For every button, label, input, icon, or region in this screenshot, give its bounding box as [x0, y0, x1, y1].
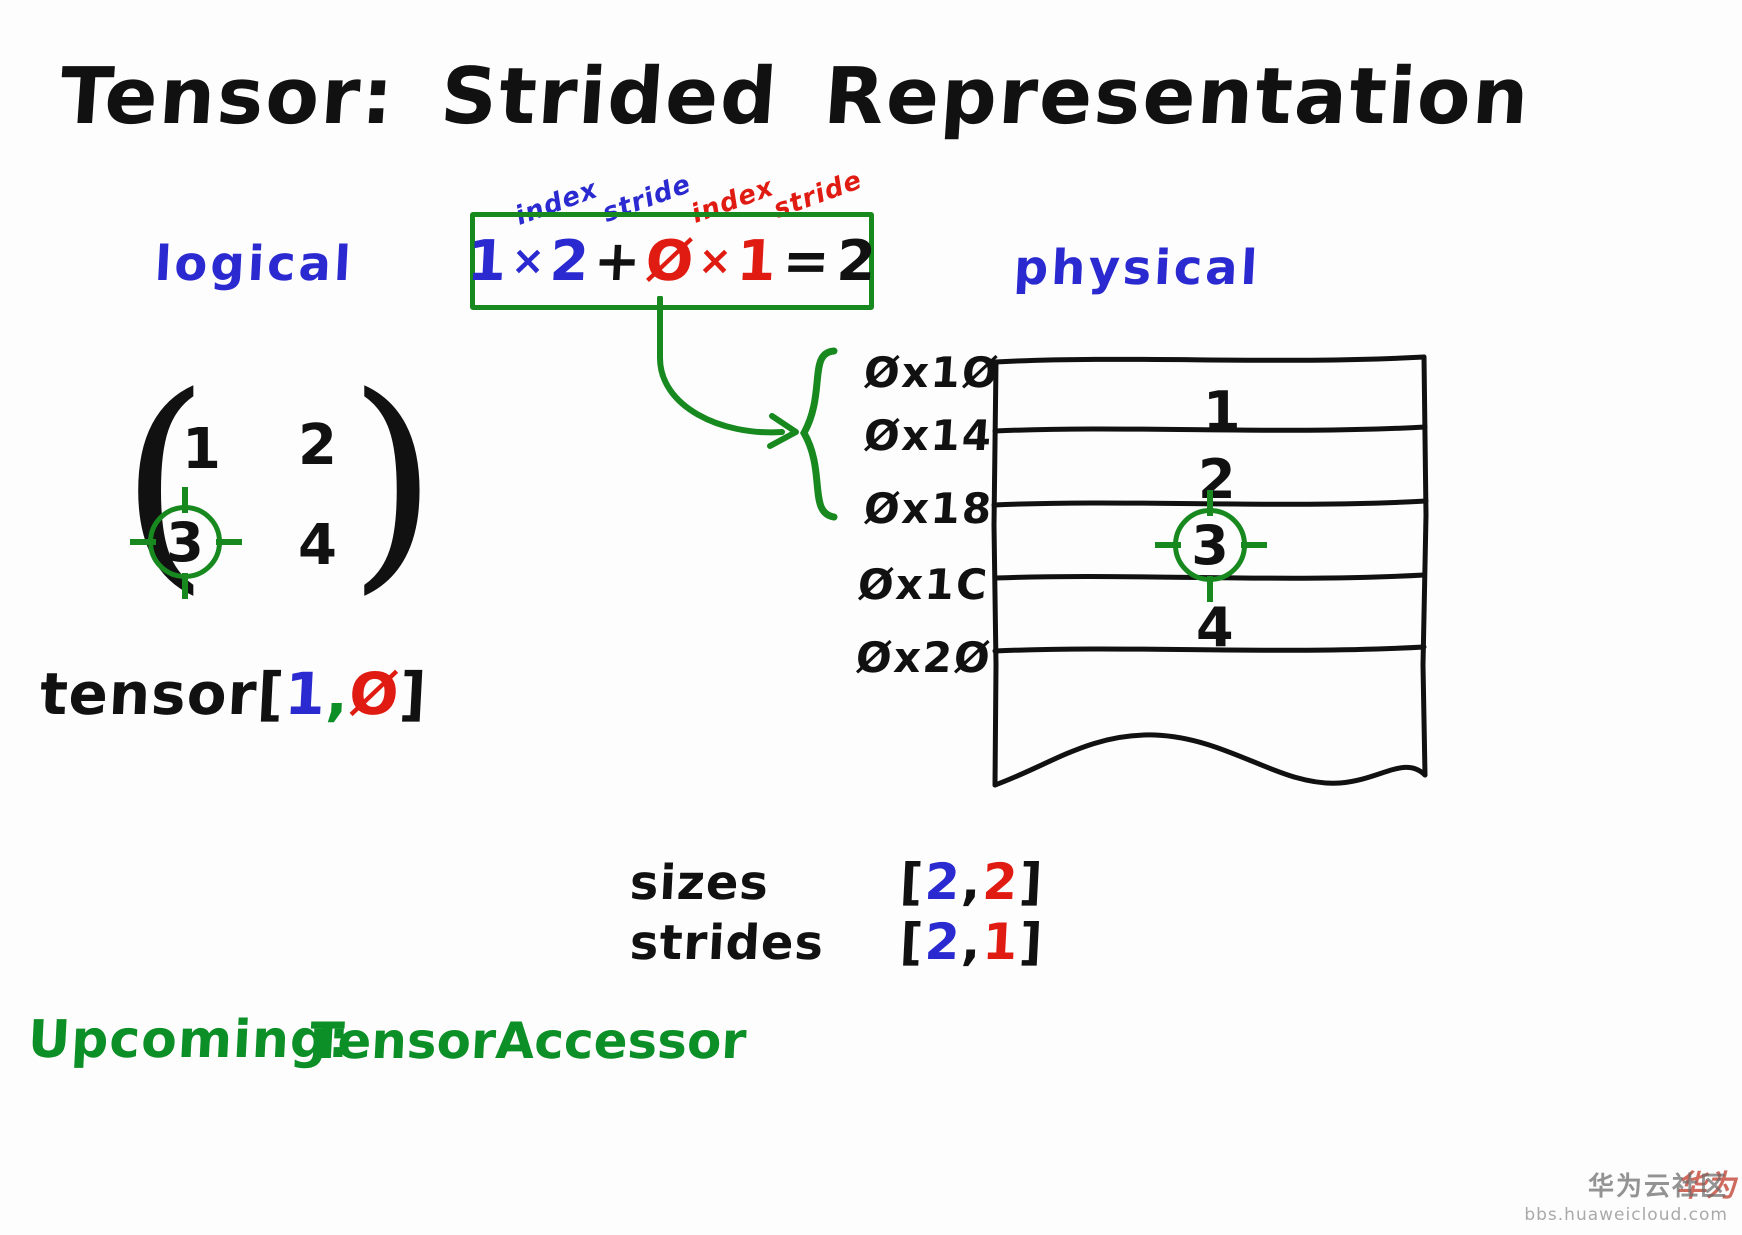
sizes-close-bracket: ]: [1018, 853, 1046, 911]
tensor-keyword: tensor: [38, 660, 259, 728]
matrix-cell-1-0: 3: [130, 487, 240, 597]
strides-close-bracket: ]: [1018, 913, 1046, 971]
formula-stride-col: 1: [735, 229, 778, 294]
formula-times-1: ×: [506, 238, 551, 284]
formula-equals: =: [775, 229, 838, 294]
strides-open-bracket: [: [898, 913, 926, 971]
physical-section-label: physical: [1013, 240, 1262, 296]
matrix-cell-1-1: 4: [298, 513, 337, 578]
sizes-label: sizes: [629, 855, 771, 911]
formula-result: 2: [835, 229, 878, 294]
matrix-right-paren: ): [348, 369, 438, 594]
strides-dim-1: 1: [981, 913, 1021, 971]
formula-stride-row: 2: [548, 229, 591, 294]
title-part-representation: Representation: [821, 52, 1533, 142]
sizes-dim-0: 2: [923, 853, 963, 911]
formula-index-row: 1: [466, 229, 509, 294]
memory-range-brace: [790, 345, 860, 525]
offset-formula-text: 1 × 2 + Ø × 1 = 2: [473, 217, 872, 305]
upcoming-label: Upcoming:: [26, 1010, 351, 1070]
tensor-index-row: 1: [283, 660, 328, 728]
memory-address-4: Øx2Ø: [854, 633, 993, 682]
memory-address-2: Øx18: [862, 484, 995, 533]
tensor-open-bracket: [: [256, 660, 287, 728]
sizes-value: [2,2]: [898, 853, 1045, 911]
logical-section-label: logical: [154, 236, 355, 292]
formula-times-2: ×: [693, 238, 738, 284]
memory-address-3: Øx1C: [856, 560, 990, 609]
memory-cell-value-3: 4: [1196, 596, 1234, 659]
memory-highlight-crosshair: 3: [1155, 490, 1265, 600]
sizes-open-bracket: [: [898, 853, 926, 911]
matrix-cell-0-0: 1: [182, 417, 221, 482]
watermark: 华为云社区 bbs.huaweicloud.com: [1524, 1166, 1728, 1225]
tensor-index-expression: tensor[1,Ø]: [38, 660, 429, 728]
tensor-index-col: Ø: [347, 660, 401, 728]
strides-dim-0: 2: [923, 913, 963, 971]
strides-label: strides: [629, 915, 826, 971]
sizes-dim-1: 2: [981, 853, 1021, 911]
strides-value: [2,1]: [898, 913, 1045, 971]
upcoming-topic: TensorAccessor: [308, 1012, 747, 1070]
watermark-site-name: 华为云社区: [1524, 1166, 1728, 1203]
matrix-highlight-crosshair: 3: [130, 487, 240, 597]
tensor-close-bracket: ]: [398, 660, 429, 728]
memory-cell-value-2: 3: [1155, 490, 1265, 600]
page-title: Tensor:StridedRepresentation: [57, 52, 1534, 142]
memory-cell-value-0: 1: [1203, 380, 1241, 443]
whiteboard-canvas: Tensor:StridedRepresentation logical phy…: [0, 0, 1742, 1235]
watermark-site-url: bbs.huaweicloud.com: [1524, 1205, 1728, 1225]
formula-index-col: Ø: [644, 229, 696, 294]
formula-plus: +: [588, 229, 647, 294]
title-part-tensor: Tensor:: [57, 52, 398, 142]
title-part-strided: Strided: [438, 52, 782, 142]
memory-address-1: Øx14: [862, 411, 995, 460]
matrix-cell-0-1: 2: [298, 413, 337, 478]
